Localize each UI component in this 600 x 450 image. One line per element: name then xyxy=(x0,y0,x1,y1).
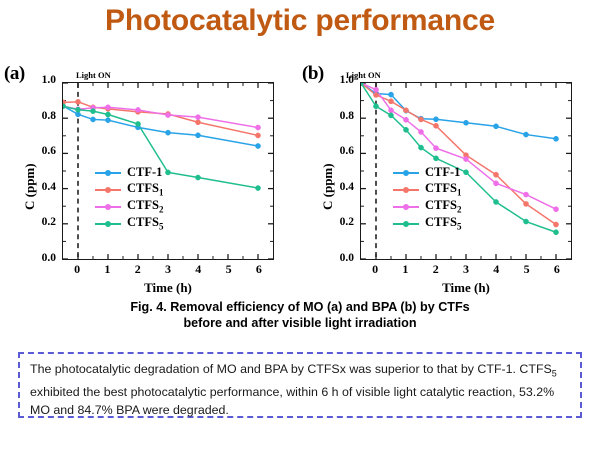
summary-textbox: The photocatalytic degradation of MO and… xyxy=(18,352,582,418)
legend-marker-CTFS1 xyxy=(393,185,419,195)
y-tick-label: 0.8 xyxy=(324,110,354,122)
legend-label-CTFS5: CTFS5 xyxy=(127,215,163,232)
summary-text: The photocatalytic degradation of MO and… xyxy=(30,360,570,420)
plot-area-a xyxy=(62,82,274,260)
y-tick-label: 0.6 xyxy=(324,145,354,157)
legend-a: CTF-1CTFS1CTFS2CTFS5 xyxy=(95,164,163,232)
caption-line-1: Fig. 4. Removal efficiency of MO (a) and… xyxy=(130,300,469,314)
legend-label-CTF-1: CTF-1 xyxy=(425,165,460,180)
x-tick-label: 0 xyxy=(365,262,385,277)
legend-item-CTF-1: CTF-1 xyxy=(393,164,461,181)
chart-panel-a: (a) Light ON Time (h) C (ppm) 1.00.80.60… xyxy=(0,58,300,298)
legend-marker-CTFS5 xyxy=(95,219,121,229)
legend-b: CTF-1CTFS1CTFS2CTFS5 xyxy=(393,164,461,232)
legend-label-CTF-1: CTF-1 xyxy=(127,165,162,180)
x-tick-label: 5 xyxy=(517,262,537,277)
figure-caption: Fig. 4. Removal efficiency of MO (a) and… xyxy=(30,299,570,331)
x-axis-title-a: Time (h) xyxy=(62,280,274,296)
caption-line-2: before and after visible light irradiati… xyxy=(183,316,416,330)
summary-subscript: 5 xyxy=(552,368,557,378)
x-tick-label: 6 xyxy=(547,262,567,277)
legend-label-CTFS5: CTFS5 xyxy=(425,215,461,232)
legend-item-CTFS2: CTFS2 xyxy=(95,198,163,215)
legend-item-CTFS5: CTFS5 xyxy=(95,215,163,232)
legend-item-CTFS1: CTFS1 xyxy=(95,181,163,198)
light-on-label-a: Light ON xyxy=(76,70,111,80)
panel-letter-b: (b) xyxy=(302,63,324,85)
y-tick-label: 0.8 xyxy=(26,110,56,122)
x-axis-title-b: Time (h) xyxy=(360,280,572,296)
y-tick-label: 0.0 xyxy=(26,252,56,264)
y-tick-label: 0.2 xyxy=(324,216,354,228)
chart-panel-b: (b) Light ON Time (h) C (ppm) 1.00.80.60… xyxy=(298,58,598,298)
figure-area: (a) Light ON Time (h) C (ppm) 1.00.80.60… xyxy=(0,58,600,298)
legend-item-CTFS1: CTFS1 xyxy=(393,181,461,198)
plot-area-b xyxy=(360,82,572,260)
x-tick-label: 4 xyxy=(188,262,208,277)
legend-item-CTF-1: CTF-1 xyxy=(95,164,163,181)
legend-marker-CTFS2 xyxy=(95,202,121,212)
page-title: Photocatalytic performance xyxy=(0,4,600,38)
x-tick-label: 4 xyxy=(486,262,506,277)
x-tick-label: 3 xyxy=(456,262,476,277)
y-tick-label: 0.2 xyxy=(26,216,56,228)
legend-item-CTFS2: CTFS2 xyxy=(393,198,461,215)
y-tick-label: 0.0 xyxy=(324,252,354,264)
y-tick-label: 1.0 xyxy=(26,74,56,86)
legend-marker-CTFS5 xyxy=(393,219,419,229)
x-tick-label: 1 xyxy=(97,262,117,277)
legend-label-CTFS1: CTFS1 xyxy=(127,181,163,198)
x-tick-label: 3 xyxy=(158,262,178,277)
y-tick-label: 1.0 xyxy=(324,74,354,86)
legend-label-CTFS1: CTFS1 xyxy=(425,181,461,198)
legend-marker-CTF-1 xyxy=(95,168,121,178)
legend-marker-CTFS1 xyxy=(95,185,121,195)
x-tick-label: 2 xyxy=(128,262,148,277)
summary-part-1: The photocatalytic degradation of MO and… xyxy=(30,362,552,376)
legend-label-CTFS2: CTFS2 xyxy=(425,198,461,215)
x-tick-label: 2 xyxy=(426,262,446,277)
x-tick-label: 5 xyxy=(219,262,239,277)
y-tick-label: 0.4 xyxy=(26,181,56,193)
summary-part-2: exhibited the best photocatalytic perfor… xyxy=(30,385,554,418)
legend-marker-CTF-1 xyxy=(393,168,419,178)
y-tick-label: 0.4 xyxy=(324,181,354,193)
x-tick-label: 0 xyxy=(67,262,87,277)
legend-marker-CTFS2 xyxy=(393,202,419,212)
legend-item-CTFS5: CTFS5 xyxy=(393,215,461,232)
y-tick-label: 0.6 xyxy=(26,145,56,157)
legend-label-CTFS2: CTFS2 xyxy=(127,198,163,215)
x-tick-label: 1 xyxy=(395,262,415,277)
panel-letter-a: (a) xyxy=(4,63,25,85)
x-tick-label: 6 xyxy=(249,262,269,277)
